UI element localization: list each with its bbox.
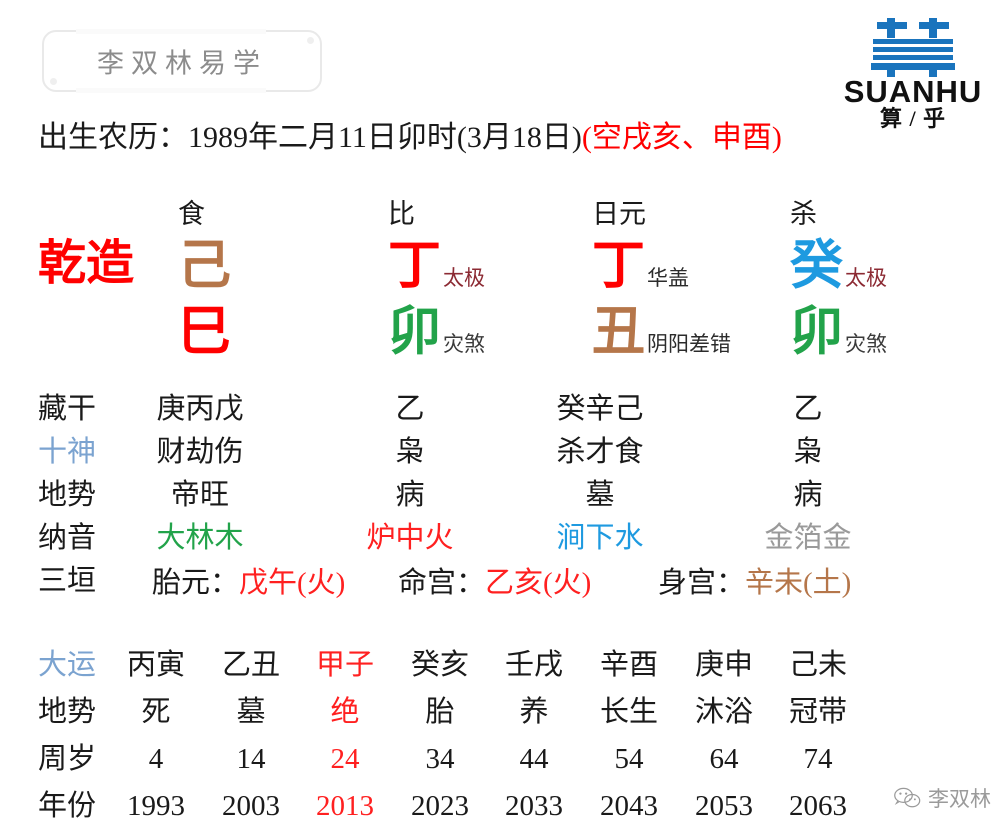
luck-cell-age[interactable]: 24 xyxy=(293,736,397,783)
brand-wordmark: SUANHU xyxy=(833,76,993,107)
sanyuan-item: 胎元：戊午(火) xyxy=(152,560,345,606)
pillar-month: 比丁太极卯灾煞 xyxy=(388,195,588,365)
pillar-month-earthly-branch: 卯 xyxy=(388,299,441,365)
pillar-day-branch-row: 丑阴阳差错 xyxy=(592,299,792,365)
pillar-month-stem-row: 丁太极 xyxy=(388,233,588,299)
luck-cell-dayun[interactable]: 丙寅 xyxy=(104,642,208,689)
detail-row: 十神财劫伤枭杀才食枭 xyxy=(0,431,1001,474)
detail-row-label: 藏干 xyxy=(38,388,96,431)
luck-row-label: 周岁 xyxy=(38,736,96,783)
luck-row-label: 年份 xyxy=(38,783,96,830)
detail-cell: 病 xyxy=(320,474,500,517)
bazi-chart-page: 李双林易学 SUANHU 算 / 乎 出生农历：1989年二月11日卯时(3月1… xyxy=(0,0,1001,837)
pillar-month-branch-row: 卯灾煞 xyxy=(388,299,588,365)
luck-cell-dishi[interactable]: 胎 xyxy=(388,689,492,736)
luck-cell-year[interactable]: 2013 xyxy=(293,783,397,830)
luck-row-age: 周岁414243444546474 xyxy=(0,736,1001,783)
luck-cell-year[interactable]: 2053 xyxy=(672,783,776,830)
luck-cell-year[interactable]: 2003 xyxy=(199,783,303,830)
detail-cell: 财劫伤 xyxy=(110,431,290,474)
luck-cell-age[interactable]: 74 xyxy=(766,736,870,783)
luck-row-label: 大运 xyxy=(38,642,96,689)
sanyuan-item-value: 辛未(土) xyxy=(745,567,851,599)
birth-solar: (3月18日) xyxy=(457,121,582,154)
luck-cell-year[interactable]: 2023 xyxy=(388,783,492,830)
detail-cell: 枭 xyxy=(320,431,500,474)
detail-row-label: 十神 xyxy=(38,431,96,474)
detail-row-label: 纳音 xyxy=(38,517,96,560)
detail-cell: 墓 xyxy=(510,474,690,517)
sanyuan-item: 命宫：乙亥(火) xyxy=(398,560,591,606)
pillar-hour-tenkgod-head: 杀 xyxy=(790,195,990,233)
detail-cell: 乙 xyxy=(320,388,500,431)
pillar-year-branch-row: 巳 xyxy=(178,299,378,365)
sanyuan-item-name: 身宫： xyxy=(658,567,745,599)
pillar-day-heavenly-stem: 丁 xyxy=(592,233,645,299)
sanyuan-item-value: 乙亥(火) xyxy=(485,567,591,599)
wechat-icon xyxy=(893,786,921,810)
detail-cell: 病 xyxy=(718,474,898,517)
pillar-year-earthly-branch: 巳 xyxy=(178,299,231,365)
luck-cell-age[interactable]: 54 xyxy=(577,736,681,783)
detail-cell: 帝旺 xyxy=(110,474,290,517)
detail-row: 地势帝旺病墓病 xyxy=(0,474,1001,517)
luck-cell-dayun[interactable]: 己未 xyxy=(766,642,870,689)
birth-info-line: 出生农历：1989年二月11日卯时(3月18日)(空戌亥、申酉) xyxy=(38,112,782,156)
luck-cell-age[interactable]: 64 xyxy=(672,736,776,783)
luck-cell-age[interactable]: 34 xyxy=(388,736,492,783)
pillar-day-stem-row: 丁华盖 xyxy=(592,233,792,299)
pillar-detail-table: 藏干庚丙戊乙癸辛己乙十神财劫伤枭杀才食枭地势帝旺病墓病纳音大林木炉中火涧下水金箔… xyxy=(0,388,1001,606)
sanyuan-item-name: 胎元： xyxy=(152,567,239,599)
luck-pillars-table: 大运丙寅乙丑甲子癸亥壬戌辛酉庚申己未地势死墓绝胎养长生沐浴冠带周岁4142434… xyxy=(0,642,1001,830)
pillar-day-shensha-2: 阴阳差错 xyxy=(645,311,731,377)
detail-cell: 大林木 xyxy=(110,517,290,560)
pillar-hour-heavenly-stem: 癸 xyxy=(790,233,843,299)
pillar-hour-shensha-2: 灾煞 xyxy=(843,311,887,377)
pillar-month-heavenly-stem: 丁 xyxy=(388,233,441,299)
detail-cell: 癸辛己 xyxy=(510,388,690,431)
luck-cell-year[interactable]: 2043 xyxy=(577,783,681,830)
pillar-hour-branch-row: 卯灾煞 xyxy=(790,299,990,365)
birth-lunar: 1989年二月11日卯时 xyxy=(188,121,457,154)
luck-cell-age[interactable]: 14 xyxy=(199,736,303,783)
luck-row-label: 地势 xyxy=(38,689,96,736)
sanyuan-row: 三垣胎元：戊午(火)命宫：乙亥(火)身宫：辛未(土) xyxy=(0,560,1001,606)
pillar-month-tenkgod-head: 比 xyxy=(388,195,588,233)
wechat-footer: 李双林 xyxy=(893,783,991,813)
sanyuan-label: 三垣 xyxy=(38,560,96,603)
gender-chart-label: 乾造 xyxy=(38,231,134,297)
luck-cell-age[interactable]: 4 xyxy=(104,736,208,783)
luck-cell-dayun[interactable]: 甲子 xyxy=(293,642,397,689)
brand-subtitle: 算 / 乎 xyxy=(833,107,993,130)
detail-cell: 金箔金 xyxy=(718,517,898,560)
luck-cell-dayun[interactable]: 乙丑 xyxy=(199,642,303,689)
wechat-account-name: 李双林 xyxy=(928,783,991,813)
luck-cell-dishi[interactable]: 冠带 xyxy=(766,689,870,736)
luck-cell-age[interactable]: 44 xyxy=(482,736,586,783)
luck-row-dishi: 地势死墓绝胎养长生沐浴冠带 xyxy=(0,689,1001,736)
detail-cell: 炉中火 xyxy=(320,517,500,560)
detail-cell: 庚丙戊 xyxy=(110,388,290,431)
watermark-text: 李双林易学 xyxy=(44,42,320,81)
luck-cell-dayun[interactable]: 癸亥 xyxy=(388,642,492,689)
luck-row-year: 年份19932003201320232033204320532063 xyxy=(0,783,1001,830)
detail-cell: 枭 xyxy=(718,431,898,474)
pillar-year-tenkgod-head: 食 xyxy=(178,195,378,233)
suanhu-logo-mark-icon xyxy=(863,16,963,78)
luck-cell-dishi[interactable]: 绝 xyxy=(293,689,397,736)
luck-cell-dayun[interactable]: 庚申 xyxy=(672,642,776,689)
brand-logo: SUANHU 算 / 乎 xyxy=(833,16,993,130)
watermark-box: 李双林易学 xyxy=(42,30,322,92)
birth-label: 出生农历： xyxy=(38,121,188,154)
detail-cell: 乙 xyxy=(718,388,898,431)
luck-cell-year[interactable]: 2033 xyxy=(482,783,586,830)
pillar-year-heavenly-stem: 己 xyxy=(178,233,231,299)
detail-row: 纳音大林木炉中火涧下水金箔金 xyxy=(0,517,1001,560)
luck-cell-dayun[interactable]: 辛酉 xyxy=(577,642,681,689)
detail-row: 藏干庚丙戊乙癸辛己乙 xyxy=(0,388,1001,431)
luck-cell-year[interactable]: 1993 xyxy=(104,783,208,830)
pillar-month-shensha-2: 灾煞 xyxy=(441,311,485,377)
luck-cell-dishi[interactable]: 沐浴 xyxy=(672,689,776,736)
luck-cell-dishi[interactable]: 死 xyxy=(104,689,208,736)
birth-kongwang: (空戌亥、申酉) xyxy=(582,121,782,154)
sanyuan-item: 身宫：辛未(土) xyxy=(658,560,851,606)
detail-cell: 杀才食 xyxy=(510,431,690,474)
sanyuan-item-name: 命宫： xyxy=(398,567,485,599)
pillar-year: 食己巳 xyxy=(178,195,378,365)
detail-row-label: 地势 xyxy=(38,474,96,517)
pillar-hour-earthly-branch: 卯 xyxy=(790,299,843,365)
pillar-hour-stem-row: 癸太极 xyxy=(790,233,990,299)
pillar-hour: 杀癸太极卯灾煞 xyxy=(790,195,990,365)
luck-row-dayun: 大运丙寅乙丑甲子癸亥壬戌辛酉庚申己未 xyxy=(0,642,1001,689)
pillar-day-tenkgod-head: 日元 xyxy=(592,195,792,233)
luck-cell-dishi[interactable]: 长生 xyxy=(577,689,681,736)
luck-cell-dishi[interactable]: 墓 xyxy=(199,689,303,736)
luck-cell-dishi[interactable]: 养 xyxy=(482,689,586,736)
pillar-day-earthly-branch: 丑 xyxy=(592,299,645,365)
detail-cell: 涧下水 xyxy=(510,517,690,560)
sanyuan-item-value: 戊午(火) xyxy=(239,567,345,599)
luck-cell-dayun[interactable]: 壬戌 xyxy=(482,642,586,689)
luck-cell-year[interactable]: 2063 xyxy=(766,783,870,830)
pillar-day: 日元丁华盖丑阴阳差错 xyxy=(592,195,792,365)
four-pillars-section: 乾造 食己巳 比丁太极卯灾煞 日元丁华盖丑阴阳差错 杀癸太极卯灾煞 xyxy=(0,195,1001,385)
pillar-year-stem-row: 己 xyxy=(178,233,378,299)
